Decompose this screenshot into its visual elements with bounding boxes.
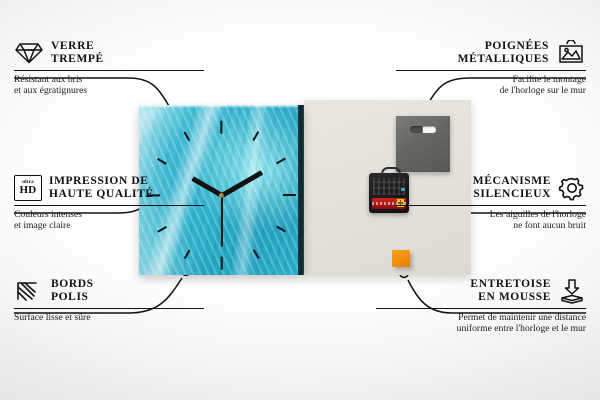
- feature-entretoise-en-mousse[interactable]: ENTRETOISE EN MOUSSE Permet de maintenir…: [376, 278, 586, 335]
- hour-marker: [283, 194, 296, 196]
- feature-divider: [14, 70, 204, 71]
- hour-marker: [157, 158, 167, 165]
- feature-poignees-metalliques[interactable]: POIGNÉES MÉTALLIQUES Facilite le montage…: [396, 40, 586, 97]
- diamond-icon: [14, 41, 44, 65]
- feature-bords-polis[interactable]: BORDS POLIS Surface lisse et sûre: [14, 278, 204, 323]
- feature-header: BORDS POLIS: [14, 278, 204, 304]
- feature-header: VERRE TREMPÉ: [14, 40, 204, 66]
- foam-spacer-part: [392, 250, 410, 267]
- hour-marker: [276, 158, 286, 165]
- second-hand: [221, 195, 223, 247]
- hour-marker: [184, 249, 191, 259]
- feature-header: ENTRETOISE EN MOUSSE: [376, 278, 586, 304]
- feature-verre-trempe[interactable]: VERRE TREMPÉ Résistant aux bris et aux é…: [14, 40, 204, 97]
- feature-divider: [14, 205, 204, 206]
- feature-description: Permet de maintenir une distance uniform…: [376, 312, 586, 335]
- feature-title: MÉCANISME SILENCIEUX: [473, 175, 551, 201]
- feature-description: Surface lisse et sûre: [14, 312, 204, 323]
- feature-title: IMPRESSION DE HAUTE QUALITÉ: [49, 175, 154, 201]
- feature-mecanisme-silencieux[interactable]: MÉCANISME SILENCIEUX Les aiguilles de l'…: [396, 175, 586, 232]
- ultra-hd-icon: ultra HD: [14, 175, 42, 201]
- infographic-root: VERRE TREMPÉ Résistant aux bris et aux é…: [0, 0, 600, 400]
- glass-right-edge: [298, 105, 304, 275]
- feature-description: Couleurs intenses et image claire: [14, 209, 204, 232]
- hour-marker: [252, 249, 259, 259]
- feature-description: Résistant aux bris et aux égratignures: [14, 74, 204, 97]
- feature-header: POIGNÉES MÉTALLIQUES: [396, 40, 586, 66]
- feature-divider: [396, 70, 586, 71]
- feature-description: Facilite le montage de l'horloge sur le …: [396, 74, 586, 97]
- minute-hand: [220, 170, 262, 197]
- feature-divider: [396, 205, 586, 206]
- clock-center-pin: [219, 193, 224, 198]
- hour-marker: [276, 226, 286, 233]
- polished-edges-icon: [14, 279, 44, 303]
- foam-spacer-icon: [558, 278, 586, 304]
- feature-divider: [376, 308, 586, 309]
- feature-title: VERRE TREMPÉ: [51, 40, 104, 66]
- hour-marker: [220, 121, 222, 134]
- hour-marker: [220, 257, 222, 270]
- hour-marker: [184, 131, 191, 141]
- feature-impression-haute-qualite[interactable]: ultra HD IMPRESSION DE HAUTE QUALITÉ Cou…: [14, 175, 204, 232]
- wall-frame-icon: [556, 40, 586, 66]
- feature-title: BORDS POLIS: [51, 278, 94, 304]
- hour-marker: [252, 131, 259, 141]
- feature-divider: [14, 308, 204, 309]
- feature-description: Les aiguilles de l'horloge ne font aucun…: [396, 209, 586, 232]
- feature-header: MÉCANISME SILENCIEUX: [396, 175, 586, 201]
- feature-title: POIGNÉES MÉTALLIQUES: [458, 40, 549, 66]
- gear-icon: [558, 175, 586, 201]
- bracket-slot: [410, 126, 436, 133]
- metal-bracket-part: [396, 116, 450, 172]
- feature-title: ENTRETOISE EN MOUSSE: [470, 278, 551, 304]
- feature-header: ultra HD IMPRESSION DE HAUTE QUALITÉ: [14, 175, 204, 201]
